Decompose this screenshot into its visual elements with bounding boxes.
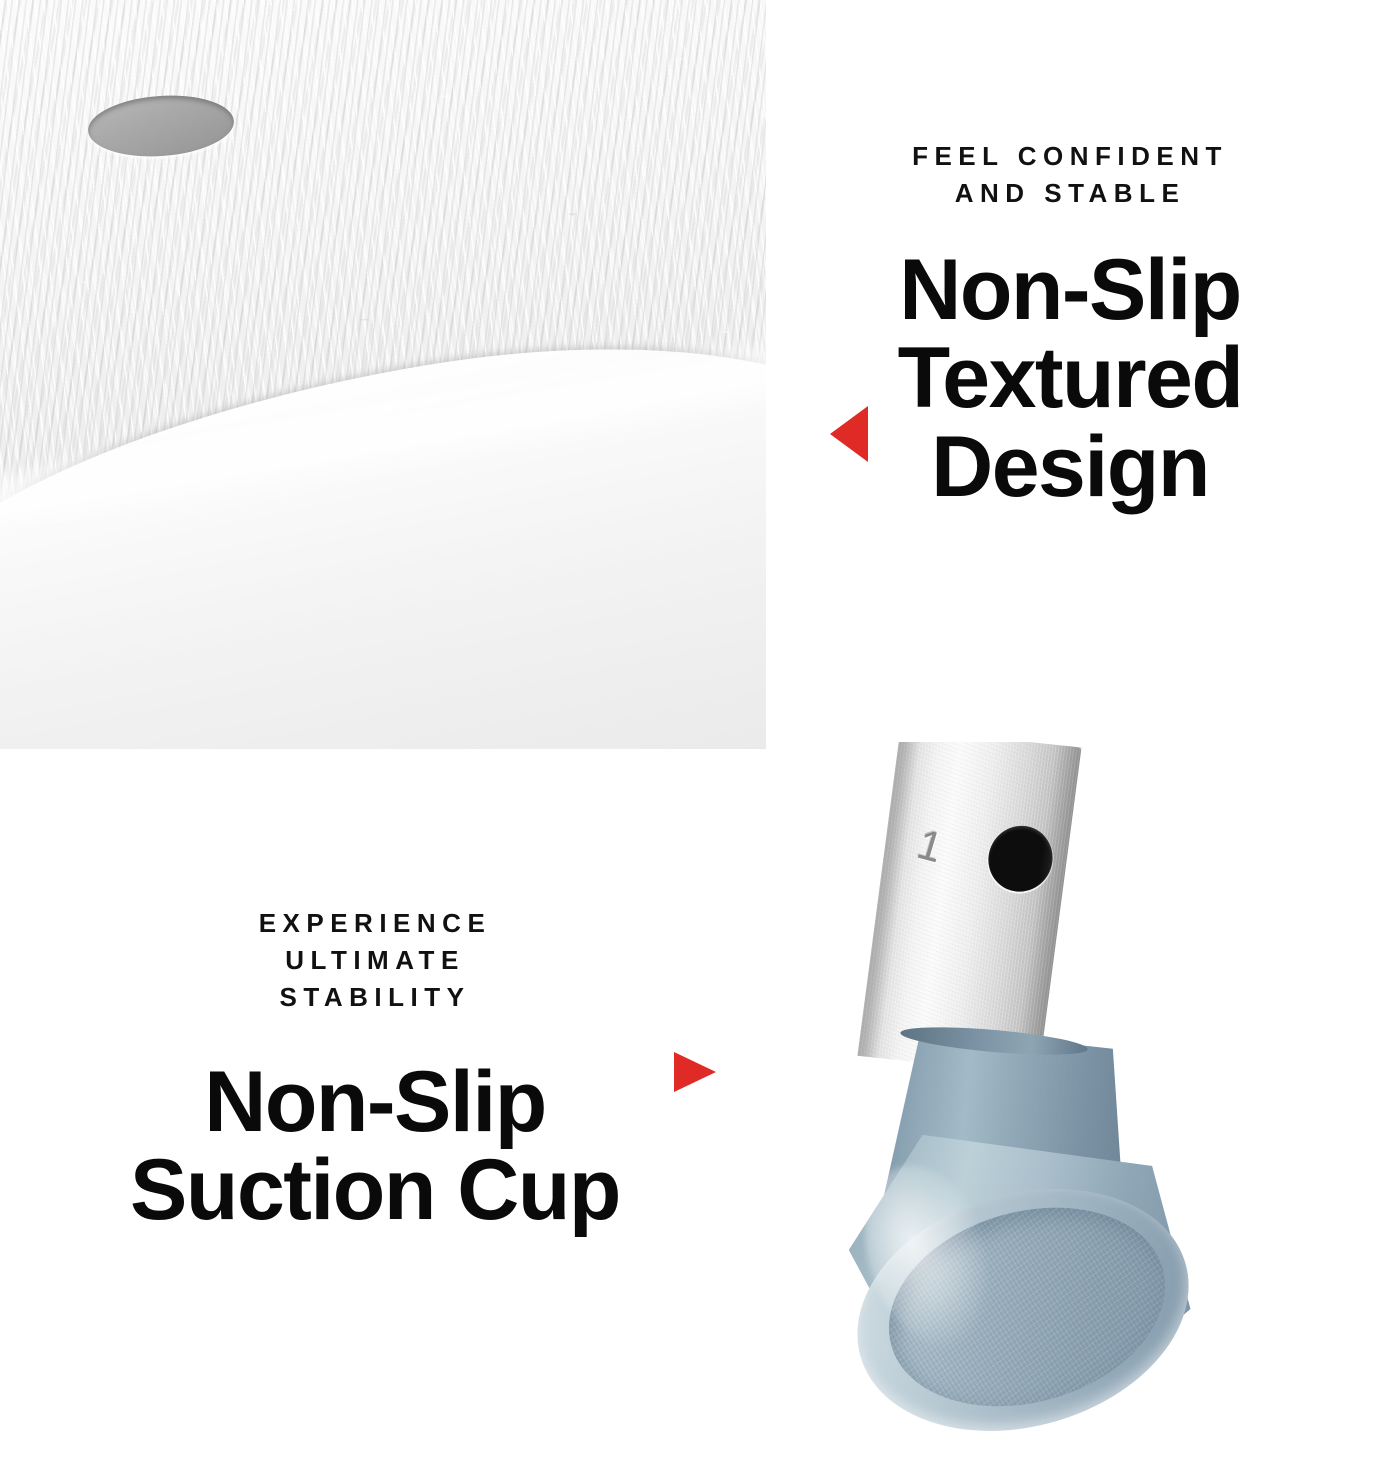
textured-eyebrow: FEEL CONFIDENT AND STABLE — [790, 138, 1350, 212]
textured-eyebrow-line-1: FEEL CONFIDENT — [790, 138, 1350, 175]
textured-headline-line-3: Design — [790, 423, 1350, 512]
suction-eyebrow-line-3: STABILITY — [95, 979, 655, 1016]
suction-headline: Non-Slip Suction Cup — [95, 1058, 655, 1235]
suction-eyebrow: EXPERIENCE ULTIMATE STABILITY — [95, 905, 655, 1016]
suction-headline-line-2: Suction Cup — [95, 1146, 655, 1235]
textured-eyebrow-line-2: AND STABLE — [790, 175, 1350, 212]
suction-headline-line-1: Non-Slip — [95, 1058, 655, 1147]
textured-seat-photo — [0, 0, 766, 749]
pointer-right-icon — [674, 1052, 716, 1092]
textured-headline: Non-Slip Textured Design — [790, 246, 1350, 512]
suction-eyebrow-line-2: ULTIMATE — [95, 942, 655, 979]
feature-textured-text-block: FEEL CONFIDENT AND STABLE Non-Slip Textu… — [790, 138, 1350, 512]
feature-suction-text-block: EXPERIENCE ULTIMATE STABILITY Non-Slip S… — [95, 905, 655, 1235]
textured-headline-line-2: Textured — [790, 334, 1350, 423]
textured-headline-line-1: Non-Slip — [790, 246, 1350, 335]
suction-cup-leg-photo: 1 — [840, 742, 1375, 1482]
product-feature-infographic: FEEL CONFIDENT AND STABLE Non-Slip Textu… — [0, 0, 1375, 1482]
tube-edge-shading — [857, 742, 1081, 1075]
suction-eyebrow-line-1: EXPERIENCE — [95, 905, 655, 942]
